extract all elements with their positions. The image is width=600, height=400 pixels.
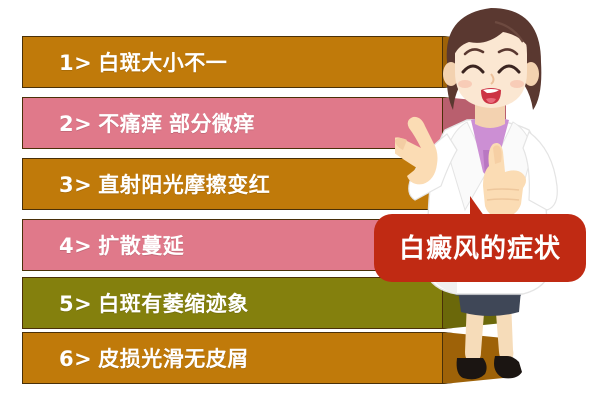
ribbon-number-6: 6>: [59, 347, 92, 371]
ribbon-row-2[interactable]: 2>不痛痒 部分微痒: [22, 97, 443, 149]
ribbon-row-1[interactable]: 1>白斑大小不一: [22, 36, 443, 88]
ribbon-text-1: 白斑大小不一: [98, 52, 227, 75]
poster-root: 1>白斑大小不一 2>不痛痒 部分微痒 3>直射阳光摩擦变红 4>扩散蔓延 5>…: [0, 0, 600, 400]
ribbon-label-1: 1>白斑大小不一: [23, 47, 227, 77]
ribbon-text-3: 直射阳光摩擦变红: [98, 174, 270, 197]
ribbon-number-1: 1>: [59, 51, 92, 75]
ribbon-label-5: 5>白斑有萎缩迹象: [23, 288, 249, 318]
ribbon-number-2: 2>: [59, 112, 92, 136]
banner-title: 白癜风的症状: [374, 196, 586, 282]
ribbon-label-3: 3>直射阳光摩擦变红: [23, 169, 270, 199]
ribbon-text-5: 白斑有萎缩迹象: [98, 293, 249, 316]
ribbon-row-6[interactable]: 6>皮损光滑无皮屑: [22, 332, 443, 384]
ribbon-text-2: 不痛痒 部分微痒: [98, 113, 255, 136]
title-banner: 白癜风的症状: [374, 196, 586, 282]
ribbon-label-4: 4>扩散蔓延: [23, 230, 184, 260]
ribbon-number-4: 4>: [59, 234, 92, 258]
ribbon-text-4: 扩散蔓延: [98, 235, 184, 258]
ribbon-label-6: 6>皮损光滑无皮屑: [23, 343, 249, 373]
ribbon-row-5[interactable]: 5>白斑有萎缩迹象: [22, 277, 443, 329]
ribbon-number-5: 5>: [59, 292, 92, 316]
ribbon-text-6: 皮损光滑无皮屑: [98, 348, 249, 371]
ribbon-label-2: 2>不痛痒 部分微痒: [23, 108, 255, 138]
ribbon-number-3: 3>: [59, 173, 92, 197]
cheek-left: [458, 80, 472, 88]
shoes: [457, 356, 522, 379]
cheek-right: [510, 80, 524, 88]
